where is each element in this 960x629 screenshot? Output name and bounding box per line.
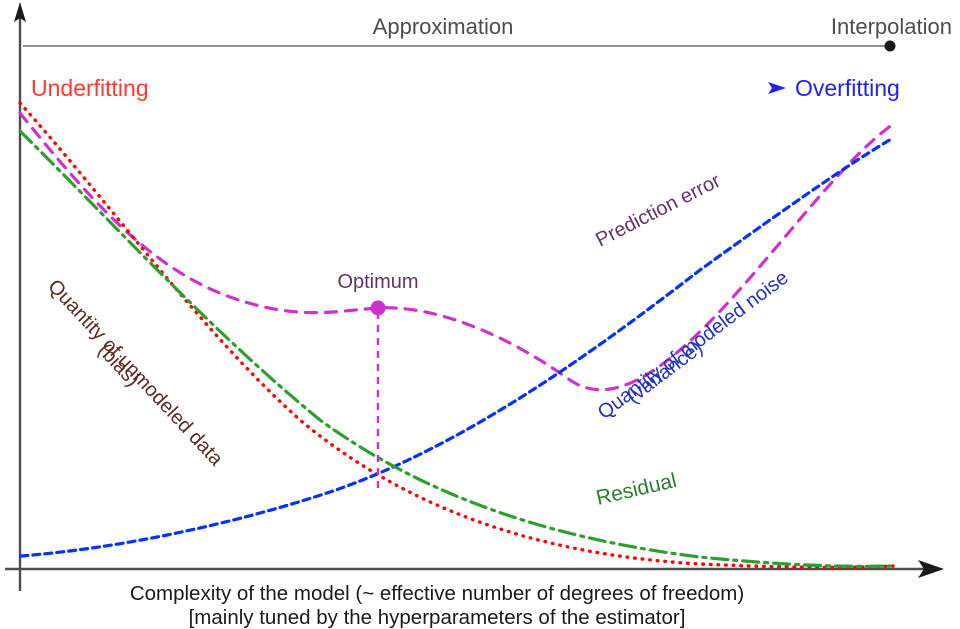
bias-variance-tradeoff-figure: Approximation Interpolation Underfitting… bbox=[0, 0, 960, 629]
overfitting-label: Overfitting bbox=[795, 75, 900, 101]
approximation-label: Approximation bbox=[373, 14, 514, 39]
x-axis-label-line2: [mainly tuned by the hyperparameters of … bbox=[189, 606, 686, 629]
variance-curve bbox=[21, 138, 893, 556]
prediction-error-curve bbox=[20, 113, 892, 390]
residual-curve bbox=[20, 131, 890, 566]
variance-label-line2: (variance) bbox=[623, 337, 707, 408]
underfitting-overfitting-arrow bbox=[167, 82, 786, 94]
x-axis-label-line1: Complexity of the model (~ effective num… bbox=[130, 582, 744, 605]
underfitting-label: Underfitting bbox=[31, 75, 149, 101]
residual-label: Residual bbox=[594, 469, 679, 510]
plot-canvas: Approximation Interpolation Underfitting… bbox=[0, 0, 960, 629]
approximation-interpolation-bar bbox=[23, 41, 896, 52]
interpolation-label: Interpolation bbox=[831, 14, 952, 39]
prediction-error-label: Prediction error bbox=[592, 170, 724, 252]
optimum-marker-group bbox=[371, 301, 386, 489]
optimum-label: Optimum bbox=[337, 271, 418, 293]
interpolation-endpoint-dot bbox=[885, 41, 896, 52]
optimum-point bbox=[371, 301, 386, 316]
